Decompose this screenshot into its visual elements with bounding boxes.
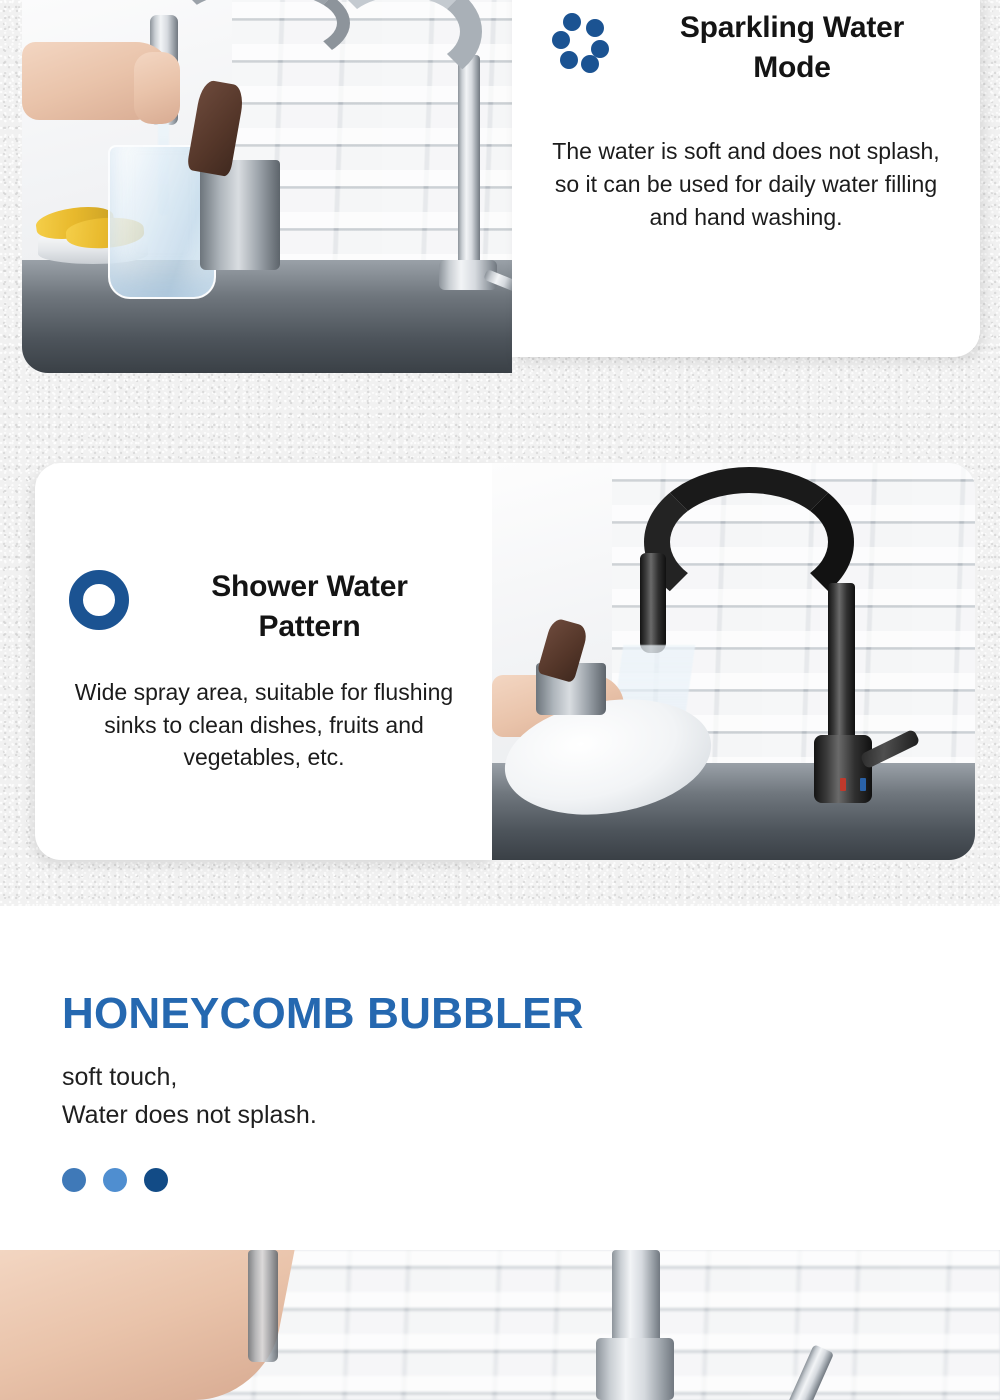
feature-image-shower-water-pattern xyxy=(492,463,975,860)
bottom-banner-image xyxy=(0,1250,1000,1400)
honeycomb-title: HONEYCOMB BUBBLER xyxy=(62,992,584,1036)
faucet-base-collar xyxy=(596,1338,674,1400)
spray-head xyxy=(640,553,666,653)
feature-image-sparkling-water-mode xyxy=(22,0,512,373)
feature-card-shower-water-pattern: Shower Water Pattern Wide spray area, su… xyxy=(35,463,975,860)
dot-light-blue xyxy=(103,1168,127,1192)
product-feature-page: Sparkling Water Mode The water is soft a… xyxy=(0,0,1000,1400)
feature-card-sparkling-water-mode: Sparkling Water Mode The water is soft a… xyxy=(22,0,980,373)
faucet-column xyxy=(612,1250,660,1346)
faucet-closeup-scene xyxy=(0,1250,1000,1400)
dot-medium-blue xyxy=(62,1168,86,1192)
ring-circle-icon xyxy=(68,569,130,631)
feature-title: Shower Water Pattern xyxy=(160,567,460,646)
dot-dark-blue xyxy=(144,1168,168,1192)
honeycomb-dot-row xyxy=(62,1168,168,1192)
fingers xyxy=(134,52,180,124)
feature-description: The water is soft and does not splash, s… xyxy=(546,135,946,233)
features-section: Sparkling Water Mode The water is soft a… xyxy=(0,0,1000,906)
faucet-base xyxy=(814,735,872,803)
kitchen-sink-scene xyxy=(22,0,512,373)
faucet-column xyxy=(458,55,480,285)
spray-hose-mesh xyxy=(248,1250,278,1362)
cold-indicator-mark xyxy=(860,778,866,791)
faucet-column xyxy=(828,583,855,748)
faucet-gooseneck xyxy=(644,467,854,617)
dish-washing-scene xyxy=(492,463,975,860)
feature-heading-inner: Shower Water Pattern xyxy=(35,567,492,646)
feature-heading-row: Sparkling Water Mode xyxy=(550,8,942,87)
feature-heading-row: Shower Water Pattern xyxy=(35,567,492,646)
feature-text-panel-shower-water-pattern: Shower Water Pattern Wide spray area, su… xyxy=(35,463,492,860)
honeycomb-bubbler-section: HONEYCOMB BUBBLER soft touch,Water does … xyxy=(0,906,1000,1250)
honeycomb-subtitle: soft touch,Water does not splash. xyxy=(62,1058,317,1134)
feature-description: Wide spray area, suitable for flushing s… xyxy=(69,676,459,774)
honeycomb-subtitle-line-2: Water does not splash. xyxy=(62,1101,317,1129)
feature-title: Sparkling Water Mode xyxy=(642,8,942,87)
feature-text-panel-sparkling-water-mode: Sparkling Water Mode The water is soft a… xyxy=(512,0,980,357)
utensil-holder xyxy=(200,160,280,270)
hot-indicator-mark xyxy=(840,778,846,791)
honeycomb-subtitle-line-1: soft touch, xyxy=(62,1063,177,1091)
six-bubble-circle-icon xyxy=(550,12,612,74)
